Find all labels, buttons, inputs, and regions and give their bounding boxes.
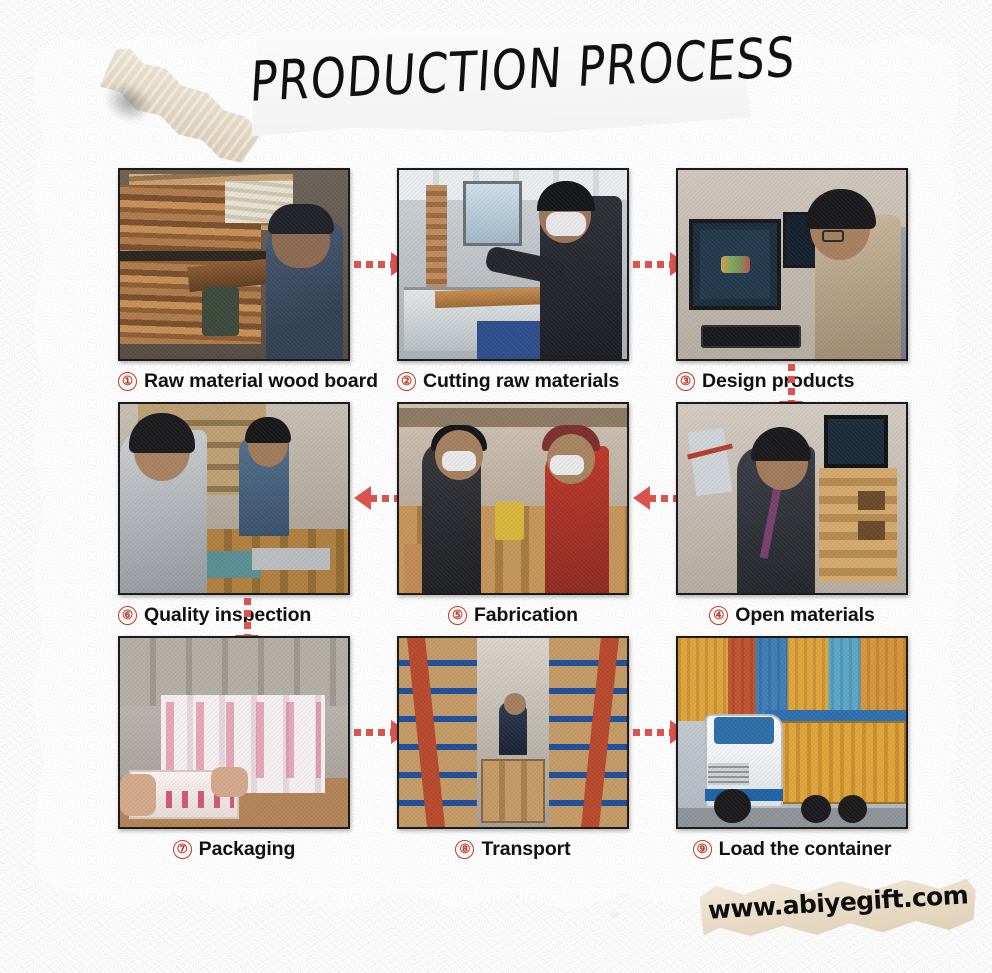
step-card-1[interactable]: ① Raw material wood board	[118, 168, 350, 393]
arrow-dashes	[788, 364, 795, 402]
step-number-badge: ⑦	[173, 840, 192, 859]
step-caption-9: ⑨ Load the container	[676, 838, 908, 861]
open-materials-scene	[678, 404, 906, 593]
step-card-4[interactable]: ④ Open materials	[676, 402, 908, 627]
step-label: Cutting raw materials	[423, 370, 619, 393]
step-card-6[interactable]: ⑥ Quality inspection	[118, 402, 350, 627]
design-computer-scene	[678, 170, 906, 359]
step-number-badge: ⑤	[448, 606, 467, 625]
step-label: Open materials	[735, 604, 875, 627]
fabrication-scene	[399, 404, 627, 593]
arrow-head-left-icon	[633, 486, 650, 510]
step-number-badge: ①	[118, 372, 137, 391]
step-number-badge: ⑨	[693, 840, 712, 859]
step-caption-7: ⑦ Packaging	[118, 838, 350, 861]
step-caption-4: ④ Open materials	[676, 604, 908, 627]
quality-inspection-scene	[120, 404, 348, 593]
step-caption-5: ⑤ Fabrication	[397, 604, 629, 627]
process-row-1: ① Raw material wood board ② Cutting raw …	[118, 168, 908, 368]
step-number-badge: ④	[709, 606, 728, 625]
step-photo-7	[118, 636, 350, 829]
packaging-scene	[120, 638, 348, 827]
step-number-badge: ⑧	[455, 840, 474, 859]
step-label: Transport	[481, 838, 570, 861]
cutting-machine-scene	[399, 170, 627, 359]
arrow-dashes	[633, 261, 671, 268]
step-card-2[interactable]: ② Cutting raw materials	[397, 168, 629, 393]
step-number-badge: ⑥	[118, 606, 137, 625]
process-steps-grid: ① Raw material wood board ② Cutting raw …	[118, 168, 908, 868]
step-photo-8	[397, 636, 629, 829]
step-photo-4	[676, 402, 908, 595]
step-card-9[interactable]: ⑨ Load the container	[676, 636, 908, 861]
step-photo-9	[676, 636, 908, 829]
step-card-3[interactable]: ③ Design products	[676, 168, 908, 393]
step-label: Quality inspection	[144, 604, 311, 627]
lumber-warehouse-scene	[120, 170, 348, 359]
step-caption-8: ⑧ Transport	[397, 838, 629, 861]
step-label: Load the container	[719, 838, 892, 861]
step-card-8[interactable]: ⑧ Transport	[397, 636, 629, 861]
step-photo-1	[118, 168, 350, 361]
step-label: Packaging	[199, 838, 296, 861]
step-number-badge: ③	[676, 372, 695, 391]
arrow-dashes	[244, 598, 251, 636]
step-photo-3	[676, 168, 908, 361]
step-caption-2: ② Cutting raw materials	[397, 370, 629, 393]
step-card-5[interactable]: ⑤ Fabrication	[397, 402, 629, 627]
arrow-head-left-icon	[354, 486, 371, 510]
step-label: Raw material wood board	[144, 370, 378, 393]
arrow-dashes	[633, 729, 671, 736]
step-photo-6	[118, 402, 350, 595]
step-photo-5	[397, 402, 629, 595]
step-number-badge: ②	[397, 372, 416, 391]
arrow-dashes	[354, 729, 392, 736]
process-row-3: ⑦ Packaging ⑧ Transport	[118, 636, 908, 836]
step-caption-1: ① Raw material wood board	[118, 370, 350, 393]
warehouse-scene	[399, 638, 627, 827]
step-label: Fabrication	[474, 604, 578, 627]
process-row-2: ⑥ Quality inspection ⑤ Fabrication	[118, 402, 908, 602]
truck-container-scene	[678, 638, 906, 827]
step-card-7[interactable]: ⑦ Packaging	[118, 636, 350, 861]
step-photo-2	[397, 168, 629, 361]
arrow-dashes	[354, 261, 392, 268]
